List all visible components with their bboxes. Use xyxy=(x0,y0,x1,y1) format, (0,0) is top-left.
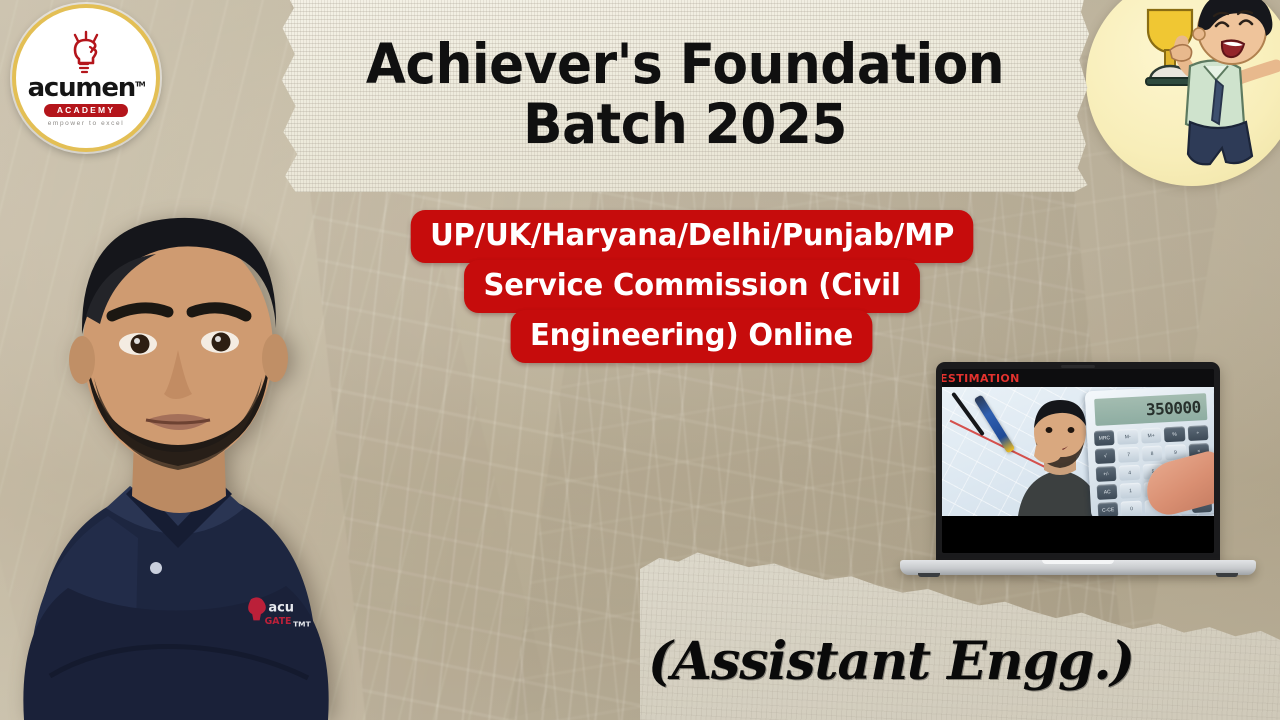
banner-line-1: UP/UK/Haryana/Delhi/Punjab/MP xyxy=(411,210,974,263)
laptop-mockup: 350000 MRC M- M+ % ÷ √ 7 8 9 × +/ xyxy=(900,362,1256,594)
laptop-lid: 350000 MRC M- M+ % ÷ √ 7 8 9 × +/ xyxy=(936,362,1220,566)
laptop-camera-icon xyxy=(1061,365,1095,368)
calc-key: ÷ xyxy=(1187,425,1208,441)
logo-trademark: TM xyxy=(135,80,144,88)
logo-tagline: empower to excel xyxy=(48,120,125,127)
video-topic-label: ESTIMATION xyxy=(942,369,1214,387)
logo-wordmark: acumenTM xyxy=(28,75,145,101)
instructor-figure: acu GATE TMT xyxy=(0,120,398,720)
calc-key: 1 xyxy=(1120,483,1141,499)
page-title: Achiever's Foundation Batch 2025 xyxy=(301,4,1070,184)
calc-key: 4 xyxy=(1119,465,1140,481)
svg-text:TMT: TMT xyxy=(293,620,311,629)
calc-key: +/- xyxy=(1096,466,1117,482)
logo-academy-pill: ACADEMY xyxy=(44,104,128,117)
calculator-display: 350000 xyxy=(1094,393,1207,426)
laptop-foot-left xyxy=(918,573,940,577)
course-banner: UP/UK/Haryana/Delhi/Punjab/MP Service Co… xyxy=(322,210,1062,363)
title-line-2: Batch 2025 xyxy=(523,95,847,153)
title-line-1: Achiever's Foundation xyxy=(366,35,1004,93)
calc-key: √ xyxy=(1095,448,1116,464)
svg-text:acu: acu xyxy=(268,601,294,616)
acumen-logo-badge: acumenTM ACADEMY empower to excel xyxy=(12,4,160,152)
poster-canvas: Achiever's Foundation Batch 2025 UP/UK/H… xyxy=(0,0,1280,720)
laptop-base xyxy=(900,560,1256,575)
calc-key: M- xyxy=(1117,429,1138,445)
calc-key: M+ xyxy=(1141,427,1162,443)
video-frame: 350000 MRC M- M+ % ÷ √ 7 8 9 × +/ xyxy=(942,386,1214,516)
calc-key: MRC xyxy=(1094,430,1115,446)
laptop-foot-right xyxy=(1216,573,1238,577)
calc-key: 0 xyxy=(1121,501,1142,516)
instructor-photo: acu GATE TMT xyxy=(0,120,398,720)
calc-key: C-CE xyxy=(1098,502,1119,516)
subtitle-text: (Assistant Engg.) xyxy=(648,636,1268,688)
calc-key: 8 xyxy=(1141,445,1162,461)
svg-text:GATE: GATE xyxy=(265,616,292,627)
laptop-trackpad-notch xyxy=(1042,560,1114,564)
laptop-screen: 350000 MRC M- M+ % ÷ √ 7 8 9 × +/ xyxy=(942,369,1214,553)
banner-line-2: Service Commission (Civil xyxy=(464,260,920,313)
video-topic-text: ESTIMATION xyxy=(942,372,1020,385)
calc-key: % xyxy=(1164,426,1185,442)
banner-line-3: Engineering) Online xyxy=(511,310,873,363)
calculator: 350000 MRC M- M+ % ÷ √ 7 8 9 × +/ xyxy=(1085,386,1214,516)
lightbulb-head-icon xyxy=(65,30,107,74)
calc-key: AC xyxy=(1097,484,1118,500)
calc-key: 7 xyxy=(1118,447,1139,463)
